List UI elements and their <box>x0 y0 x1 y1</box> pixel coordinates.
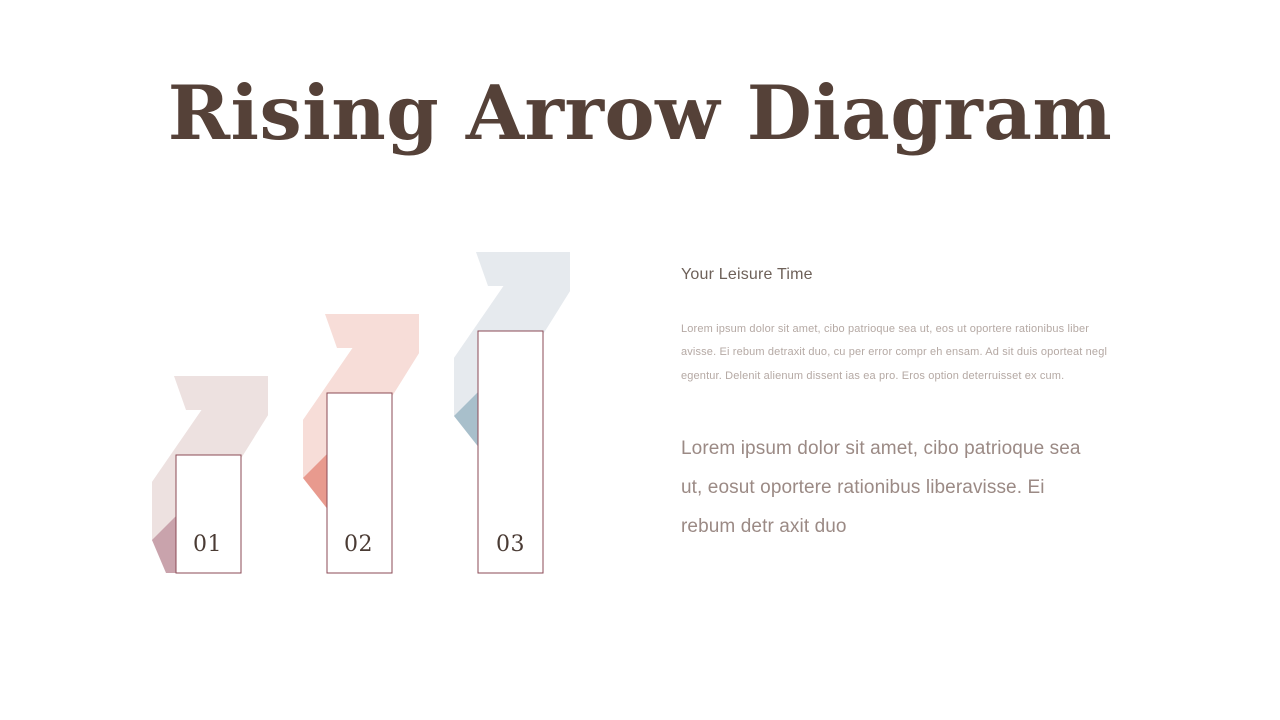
step-number-01: 01 <box>193 534 222 556</box>
step-number-02: 02 <box>344 534 373 556</box>
content-body-paragraph: Lorem ipsum dolor sit amet, cibo patrioq… <box>681 318 1121 387</box>
content-heading: Your Leisure Time <box>681 264 1141 286</box>
content-lead-paragraph: Lorem ipsum dolor sit amet, cibo patrioq… <box>681 430 1101 547</box>
slide-canvas: Rising Arrow Diagram <box>0 0 1280 720</box>
arrow-step-03[interactable] <box>454 252 570 573</box>
page-title: Rising Arrow Diagram <box>0 74 1280 153</box>
content-panel: Your Leisure Time Lorem ipsum dolor sit … <box>681 264 1141 546</box>
step-number-03: 03 <box>496 534 525 556</box>
